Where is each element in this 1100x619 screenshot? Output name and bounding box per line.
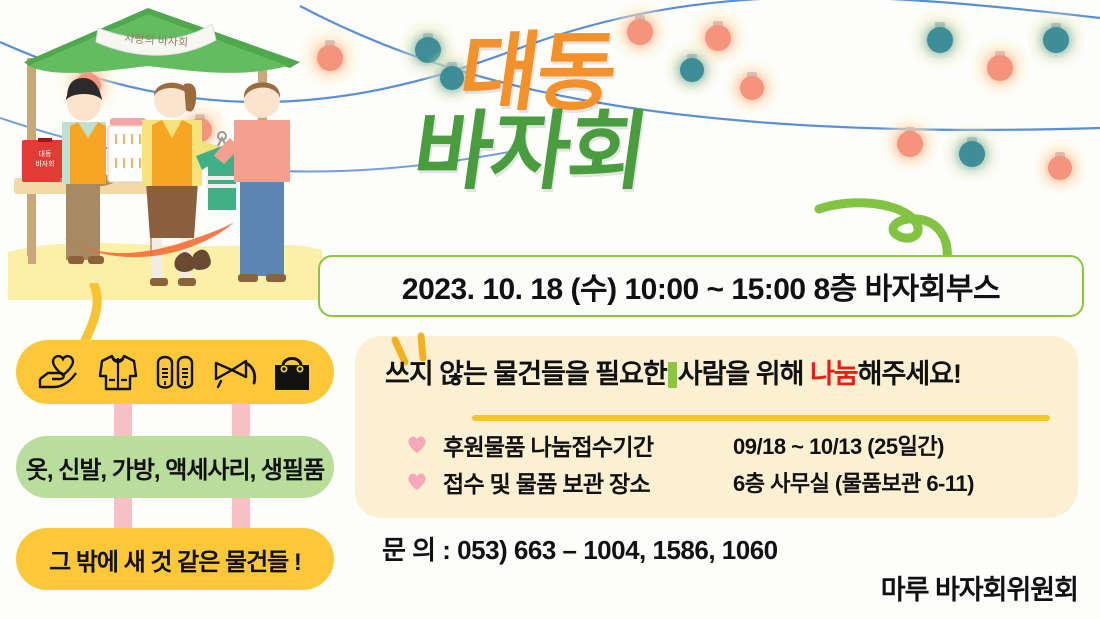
handbag-icon bbox=[272, 352, 312, 392]
detail-rows: 후원물품 나눔접수기간 09/18 ~ 10/13 (25일간) 접수 및 물품… bbox=[407, 426, 1067, 500]
heart-in-hand-icon bbox=[38, 353, 82, 391]
heart-bullet-icon bbox=[407, 472, 427, 491]
poster-canvas: 사랑의 바자회 대동 바자회 bbox=[0, 0, 1100, 619]
poster-title: 대동 바자회 bbox=[420, 34, 840, 224]
green-tick-mark bbox=[668, 362, 677, 388]
message-highlight: 나눔 bbox=[810, 359, 858, 389]
category-icons-box bbox=[16, 340, 334, 404]
category-other-box: 그 밖에 새 것 같은 물건들 ! bbox=[16, 528, 334, 590]
green-swoosh-icon bbox=[805, 185, 965, 265]
bazaar-illustration: 사랑의 바자회 대동 바자회 bbox=[0, 0, 330, 305]
bowtie-icon bbox=[212, 355, 258, 389]
date-banner-text: 2023. 10. 18 (수) 10:00 ~ 15:00 8층 바자회부스 bbox=[402, 264, 1000, 308]
svg-text:바자회: 바자회 bbox=[35, 159, 54, 168]
category-items-box: 옷, 신발, 가방, 액세사리, 생필품 bbox=[16, 436, 334, 498]
svg-text:대동: 대동 bbox=[39, 150, 52, 158]
contact-info: 문 의 : 053) 663 – 1004, 1586, 1060 bbox=[382, 530, 778, 567]
jacket-icon bbox=[96, 352, 140, 392]
title-line-1: 대동 bbox=[454, 34, 845, 113]
box-connector bbox=[114, 400, 132, 440]
detail-label: 후원물품 나눔접수기간 bbox=[443, 428, 733, 462]
person-seller bbox=[62, 78, 106, 264]
category-items-text: 옷, 신발, 가방, 액세사리, 생필품 bbox=[26, 450, 324, 485]
date-banner: 2023. 10. 18 (수) 10:00 ~ 15:00 8층 바자회부스 bbox=[318, 255, 1084, 317]
message-part-3: 해주세요! bbox=[858, 359, 961, 389]
message-headline: 쓰지 않는 물건들을 필요한사람을 위해 나눔해주세요! bbox=[385, 352, 1065, 391]
detail-value: 09/18 ~ 10/13 (25일간) bbox=[733, 429, 944, 461]
detail-label: 접수 및 물품 보관 장소 bbox=[443, 465, 733, 499]
shoes-icon bbox=[154, 351, 198, 393]
heart-bullet-icon bbox=[407, 435, 427, 454]
organizer-name: 마루 바자회위원회 bbox=[881, 568, 1078, 607]
detail-value: 6층 사무실 (물품보관 6-11) bbox=[733, 466, 974, 498]
detail-row: 후원물품 나눔접수기간 09/18 ~ 10/13 (25일간) bbox=[407, 426, 1067, 463]
detail-row: 접수 및 물품 보관 장소 6층 사무실 (물품보관 6-11) bbox=[407, 463, 1067, 500]
message-part-1: 쓰지 않는 물건들을 필요한 bbox=[385, 359, 667, 389]
title-line-2: 바자회 bbox=[408, 113, 845, 192]
box-connector bbox=[232, 400, 250, 440]
category-other-text: 그 밖에 새 것 같은 물건들 ! bbox=[49, 542, 301, 577]
message-part-2: 사람을 위해 bbox=[678, 359, 804, 389]
info-panel: 쓰지 않는 물건들을 필요한사람을 위해 나눔해주세요! 후원물품 나눔접수기간… bbox=[355, 336, 1078, 518]
panel-divider bbox=[472, 415, 1050, 421]
